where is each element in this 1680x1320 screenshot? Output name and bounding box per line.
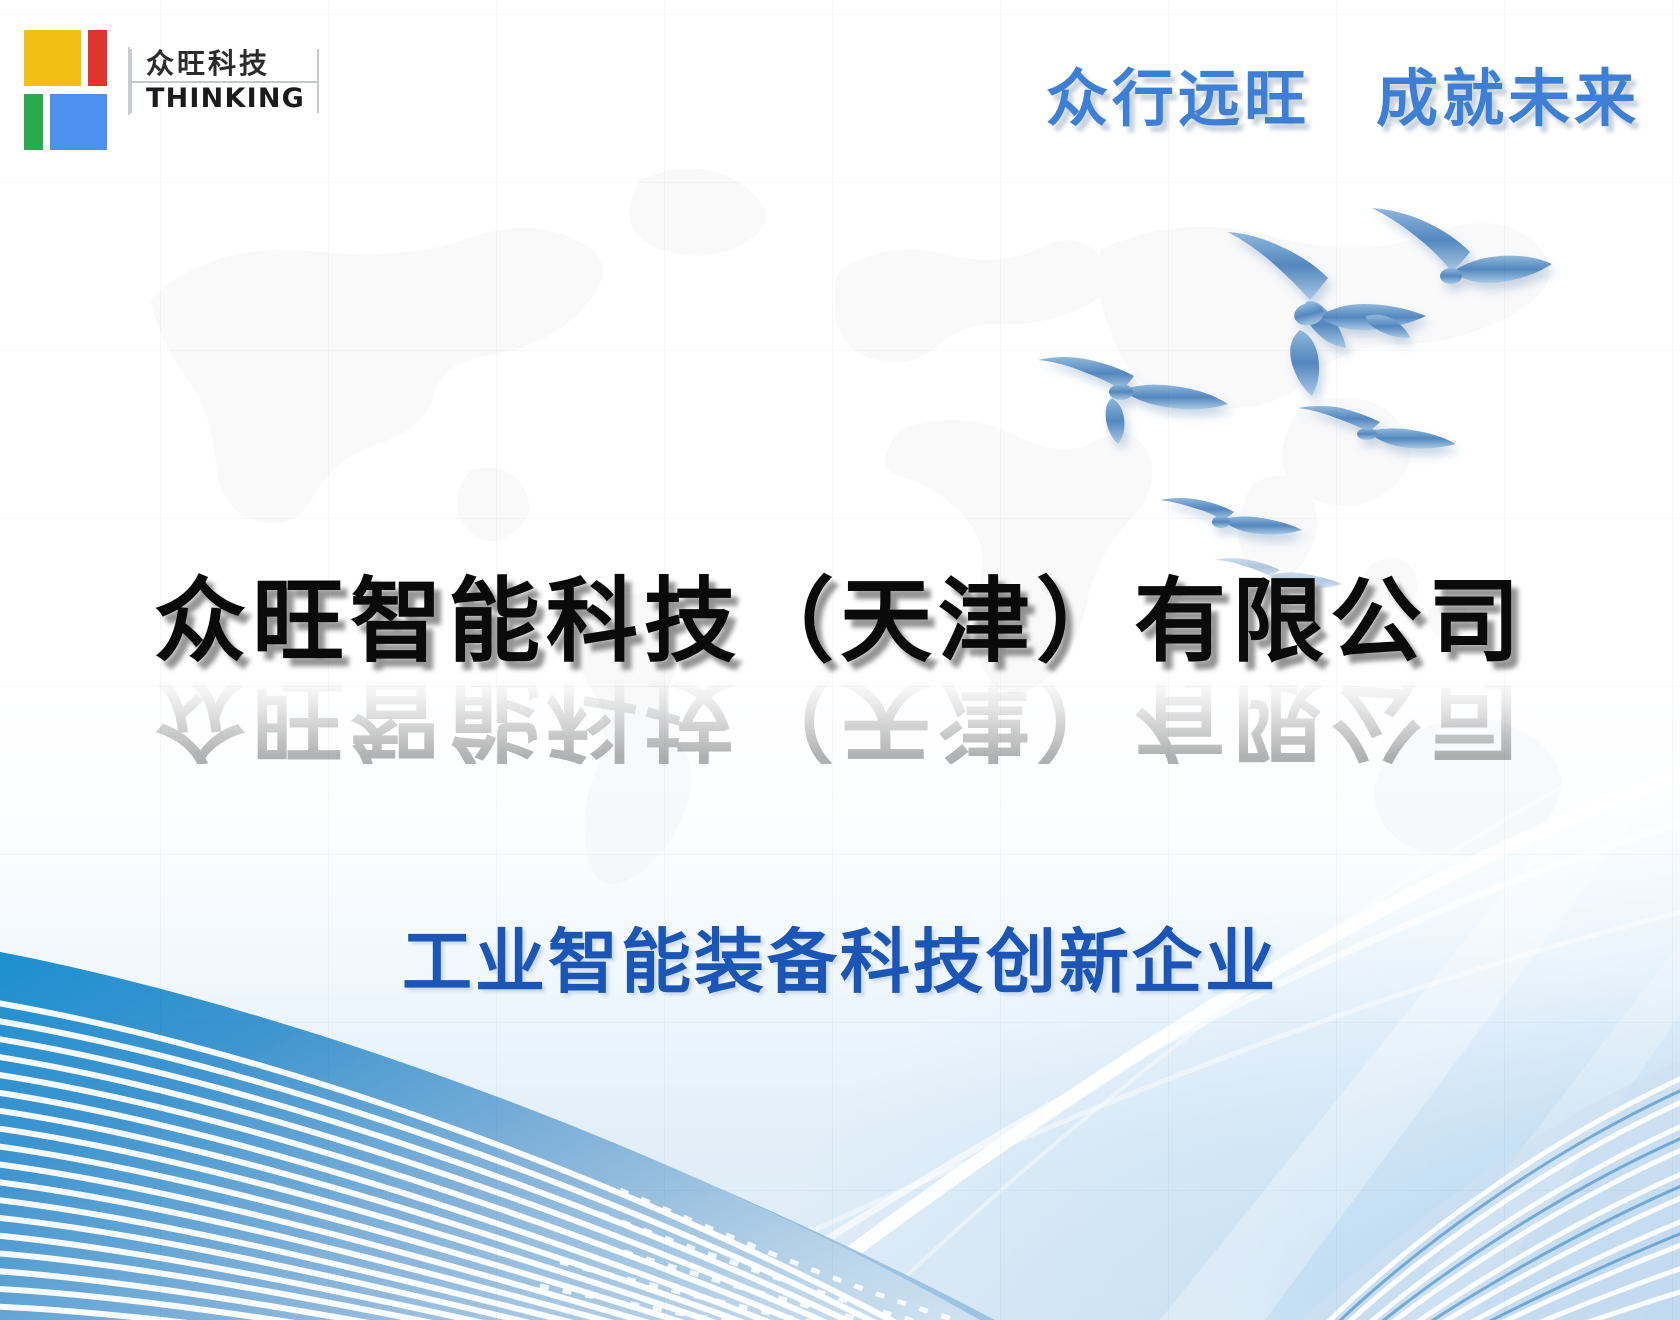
company-logo[interactable]: 众旺科技 THINKING bbox=[24, 22, 305, 140]
logo-wordmark: 众旺科技 THINKING bbox=[128, 47, 305, 115]
seagull-small-right bbox=[1298, 406, 1456, 449]
page-title-reflection: 众旺智能科技（天津）有限公司 bbox=[154, 672, 1526, 764]
seagull-small-low bbox=[1160, 498, 1302, 535]
header-slogan: 众行远旺 成就未来 bbox=[1046, 48, 1640, 138]
logo-yellow-square bbox=[24, 30, 81, 86]
logo-blue-square bbox=[50, 94, 107, 150]
logo-company-name-cn: 众旺科技 bbox=[146, 47, 305, 80]
page-subtitle: 工业智能装备科技创新企业 bbox=[0, 906, 1680, 1007]
seagull-large bbox=[1228, 232, 1426, 396]
logo-company-name-en: THINKING bbox=[146, 83, 305, 115]
logo-red-bar bbox=[88, 30, 107, 86]
seagull-top-right bbox=[1372, 208, 1552, 284]
logo-mark-squares bbox=[24, 22, 114, 140]
logo-green-bar bbox=[24, 94, 43, 150]
page-title: 众旺智能科技（天津）有限公司 bbox=[154, 576, 1526, 668]
presentation-slide: 众旺科技 THINKING 众行远旺 成就未来 众旺智能科技（天津）有限公司 众… bbox=[0, 0, 1680, 1320]
logo-divider-middle bbox=[130, 81, 319, 83]
seagull-mid bbox=[1038, 357, 1228, 444]
title-block: 众旺智能科技（天津）有限公司 众旺智能科技（天津）有限公司 bbox=[0, 576, 1680, 764]
